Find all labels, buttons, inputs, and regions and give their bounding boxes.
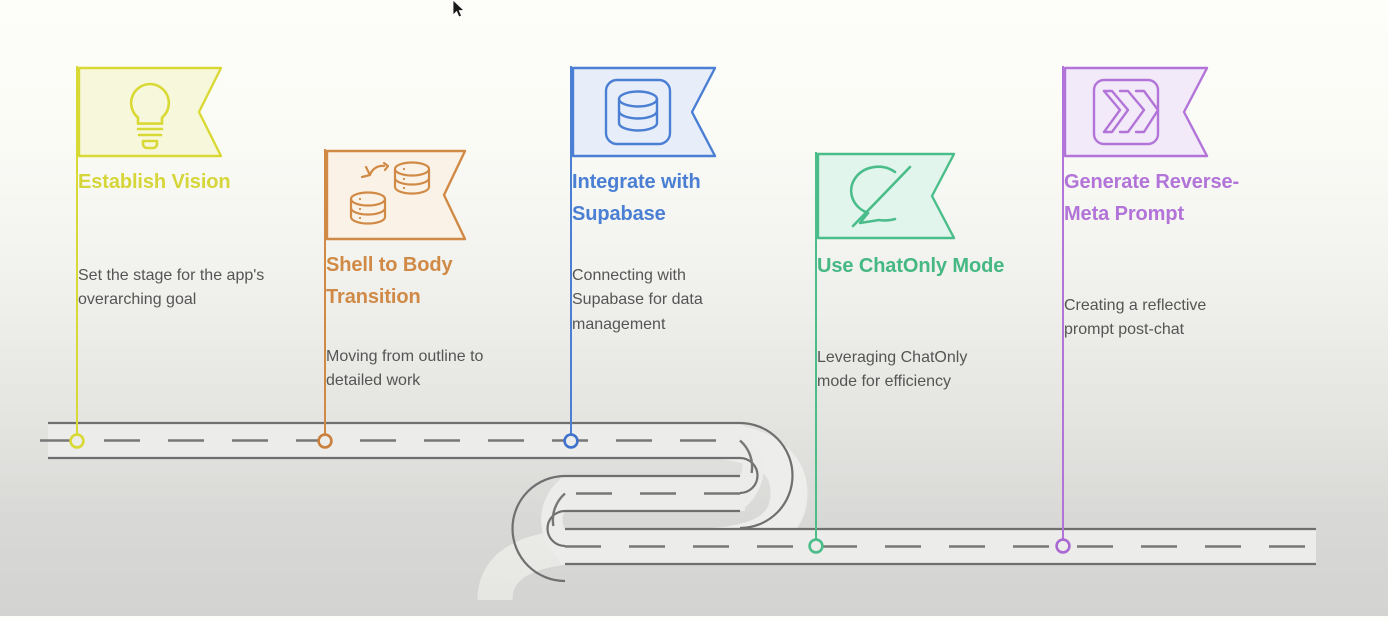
- milestone-title: Shell to Body Transition: [326, 249, 516, 314]
- milestone-flag: [817, 152, 963, 244]
- milestone-description: Leveraging ChatOnly mode for efficiency: [817, 346, 1007, 395]
- road-geometry: [40, 423, 1320, 582]
- milestone-road-marker: [806, 536, 826, 556]
- milestone-title: Integrate with Supabase: [572, 166, 762, 231]
- milestone-description: Moving from outline to detailed work: [326, 345, 516, 394]
- road-surface: [48, 440, 790, 600]
- milestone-flag: [326, 149, 472, 241]
- milestone-description: Set the stage for the app's overarching …: [78, 264, 268, 313]
- milestone-road-marker: [1053, 536, 1073, 556]
- milestone-road-marker: [561, 431, 581, 451]
- milestone-flag: [78, 66, 224, 158]
- milestone-description: Connecting with Supabase for data manage…: [572, 264, 762, 337]
- milestone-flag: [572, 66, 718, 158]
- milestone-flag: [1064, 66, 1210, 158]
- roadmap-diagram: Establish Vision Set the stage for the a…: [0, 0, 1388, 616]
- milestone-description: Creating a reflective prompt post-chat: [1064, 294, 1254, 343]
- milestone-road-marker: [315, 431, 335, 451]
- mouse-pointer-icon: [452, 0, 466, 20]
- milestone-title: Establish Vision: [78, 166, 268, 198]
- milestone-road-marker: [67, 431, 87, 451]
- milestone-title: Generate Reverse-Meta Prompt: [1064, 166, 1254, 231]
- milestone-title: Use ChatOnly Mode: [817, 250, 1007, 282]
